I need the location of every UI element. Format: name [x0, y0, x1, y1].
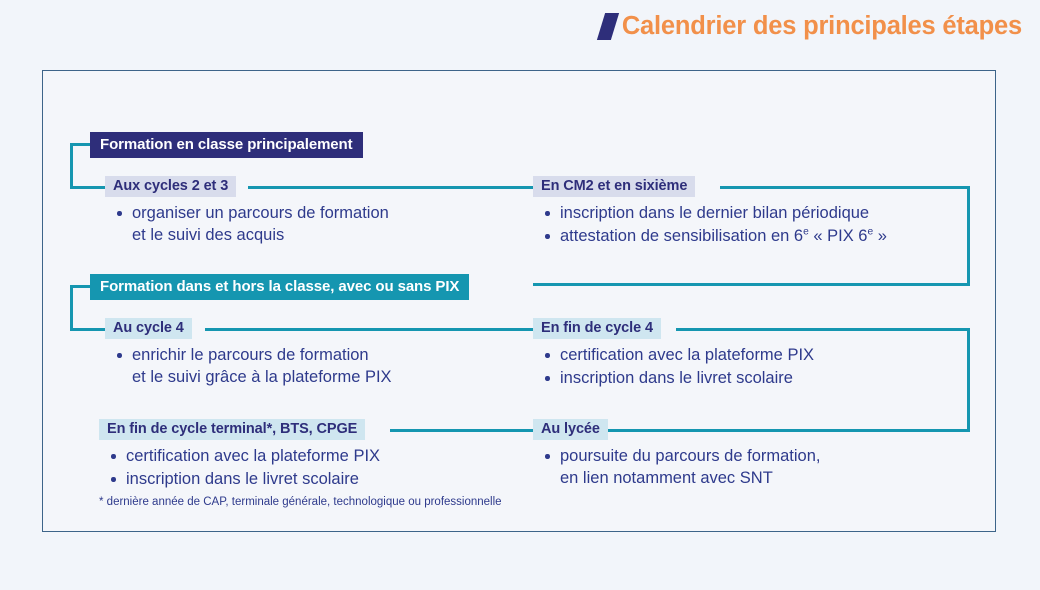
group-banner-formation-classe: Formation en classe principalement [90, 132, 363, 158]
block-cm2-sixieme: En CM2 et en sixième inscription dans le… [533, 176, 887, 248]
block-au-lycee: Au lycée poursuite du parcours de format… [533, 419, 820, 490]
bullet-line-2: et le suivi grâce à la plateforme PIX [132, 366, 392, 388]
group-banner-formation-hors-classe: Formation dans et hors la classe, avec o… [90, 274, 469, 300]
list-item: inscription dans le dernier bilan périod… [543, 202, 887, 224]
bullet-line-1: certification avec la plateforme PIX [126, 447, 380, 465]
block-au-cycle-4: Au cycle 4 enrichir le parcours de forma… [105, 318, 392, 389]
bullet-line-1: enrichir le parcours de formation [132, 346, 369, 364]
bullet-line-1: inscription dans le dernier bilan périod… [560, 204, 869, 222]
bullet-list-en-fin-cycle-4: certification avec la plateforme PIX ins… [533, 344, 814, 389]
footnote: * dernière année de CAP, terminale génér… [99, 496, 502, 508]
bullet-list-fin-cycle-terminal: certification avec la plateforme PIX ins… [99, 445, 380, 490]
list-item: inscription dans le livret scolaire [109, 468, 380, 490]
subheading-en-fin-cycle-4: En fin de cycle 4 [533, 318, 661, 339]
connector-vertical-g1 [70, 143, 73, 188]
block-fin-cycle-terminal: En fin de cycle terminal*, BTS, CPGE cer… [99, 419, 380, 491]
connector-vertical-g2 [70, 285, 73, 330]
connector-right-down-g1 [967, 186, 970, 286]
connector-to-subhead-g2 [70, 328, 105, 331]
bullet-line-1: poursuite du parcours de formation, [560, 447, 820, 465]
bullet-line-1: inscription dans le livret scolaire [126, 470, 359, 488]
bullet-line-2: et le suivi des acquis [132, 224, 389, 246]
subheading-au-lycee: Au lycée [533, 419, 608, 440]
connector-return-to-banner2 [533, 283, 970, 286]
slash-icon [597, 13, 619, 40]
list-item: attestation de sensibilisation en 6e « P… [543, 225, 887, 247]
page-title-text: Calendrier des principales étapes [622, 12, 1022, 41]
connector-row3-span [390, 429, 538, 432]
list-item: poursuite du parcours de formation, en l… [543, 445, 820, 489]
bullet-line-1: organiser un parcours de formation [132, 204, 389, 222]
bullet-line-2: en lien notamment avec SNT [560, 467, 820, 489]
list-item: certification avec la plateforme PIX [109, 445, 380, 467]
block-en-fin-cycle-4: En fin de cycle 4 certification avec la … [533, 318, 814, 390]
list-item: organiser un parcours de formation et le… [115, 202, 389, 246]
subheading-cm2-sixieme: En CM2 et en sixième [533, 176, 695, 197]
subheading-fin-cycle-terminal: En fin de cycle terminal*, BTS, CPGE [99, 419, 365, 440]
list-item: certification avec la plateforme PIX [543, 344, 814, 366]
bullet-line-1: inscription dans le livret scolaire [560, 369, 793, 387]
bullet-line-1-superscripted: attestation de sensibilisation en 6e « P… [560, 227, 887, 245]
connector-right-down-g2 [967, 328, 970, 432]
bullet-list-au-cycle-4: enrichir le parcours de formation et le … [105, 344, 392, 388]
bullet-list-au-lycee: poursuite du parcours de formation, en l… [533, 445, 820, 489]
connector-to-subhead-g1 [70, 186, 105, 189]
bullet-list-aux-cycles-2-3: organiser un parcours de formation et le… [105, 202, 389, 246]
subheading-aux-cycles-2-3: Aux cycles 2 et 3 [105, 176, 236, 197]
bullet-list-cm2-sixieme: inscription dans le dernier bilan périod… [533, 202, 887, 247]
subheading-au-cycle-4: Au cycle 4 [105, 318, 192, 339]
block-aux-cycles-2-3: Aux cycles 2 et 3 organiser un parcours … [105, 176, 389, 247]
connector-banner-stub-g1 [70, 143, 92, 146]
bullet-line-1: certification avec la plateforme PIX [560, 346, 814, 364]
infographic-canvas: Calendrier des principales étapes Format… [0, 0, 1040, 590]
page-title: Calendrier des principales étapes [601, 12, 1022, 41]
connector-banner-stub-g2 [70, 285, 92, 288]
list-item: inscription dans le livret scolaire [543, 367, 814, 389]
list-item: enrichir le parcours de formation et le … [115, 344, 392, 388]
